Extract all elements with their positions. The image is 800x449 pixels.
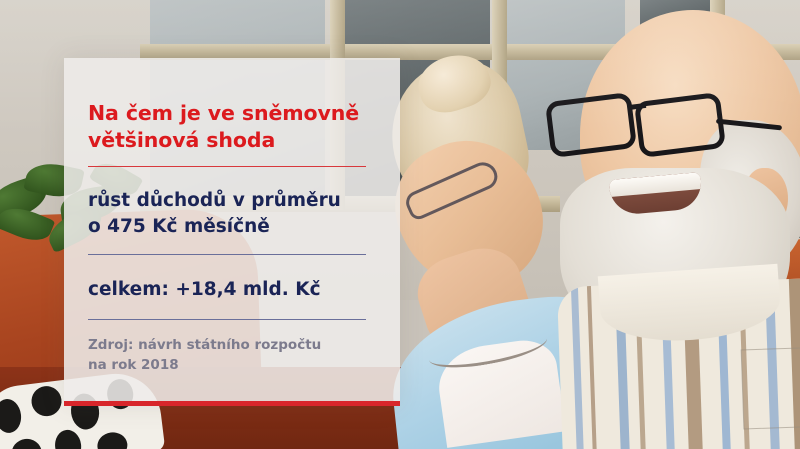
divider-navy-upper: [88, 254, 366, 255]
man-glasses-right-lens: [634, 92, 726, 158]
man-shirt-pocket: [741, 347, 800, 430]
panel-title: Na čem je ve sněmovně většinová shoda: [88, 100, 366, 153]
divider-navy-lower: [88, 319, 366, 320]
divider-red: [88, 166, 366, 167]
panel-body-text: růst důchodů v průměru o 475 Kč měsíčně: [88, 188, 366, 240]
man-glasses-left-lens: [545, 92, 637, 158]
info-panel: Na čem je ve sněmovně většinová shoda rů…: [64, 58, 400, 406]
panel-total-text: celkem: +18,4 mld. Kč: [88, 277, 366, 303]
panel-source-text: Zdroj: návrh státního rozpočtu na rok 20…: [88, 336, 366, 375]
infographic-stage: Na čem je ve sněmovně většinová shoda rů…: [0, 0, 800, 449]
